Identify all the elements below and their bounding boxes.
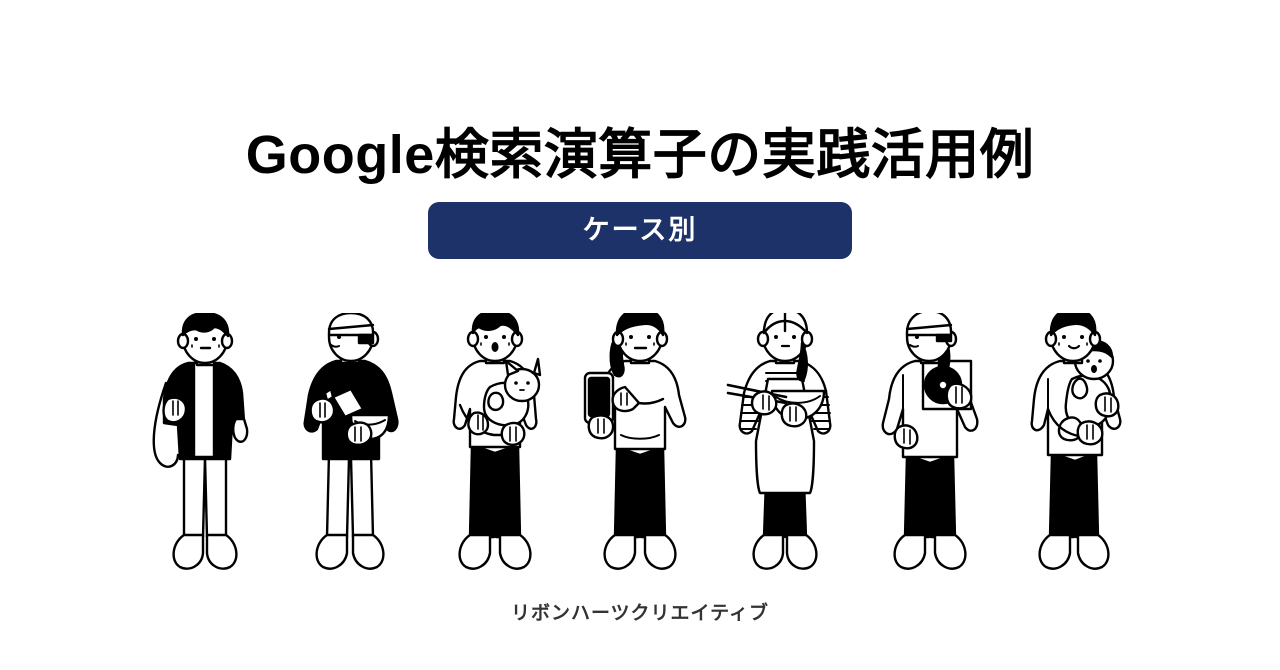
status-badge: ケース別 (428, 202, 852, 259)
person-holding-record-illustration (869, 313, 992, 575)
slide-canvas: Google検索演算子の実践活用例 ケース別 (0, 0, 1280, 670)
person-holding-cat-illustration (434, 313, 557, 575)
badge-row: ケース別 (0, 202, 1280, 259)
footer-brand: リボンハーツクリエイティブ (0, 598, 1280, 625)
badge-label: ケース別 (583, 217, 698, 244)
person-holding-baby-illustration (1014, 313, 1137, 575)
page-title: Google検索演算子の実践活用例 (246, 124, 1035, 186)
person-holding-smartphone-illustration (579, 313, 702, 575)
person-pouring-into-bowl-illustration (289, 313, 412, 575)
person-eating-noodles-illustration (724, 313, 847, 575)
person-with-shoulder-bag-illustration (144, 313, 267, 575)
illustration-row (0, 305, 1280, 575)
